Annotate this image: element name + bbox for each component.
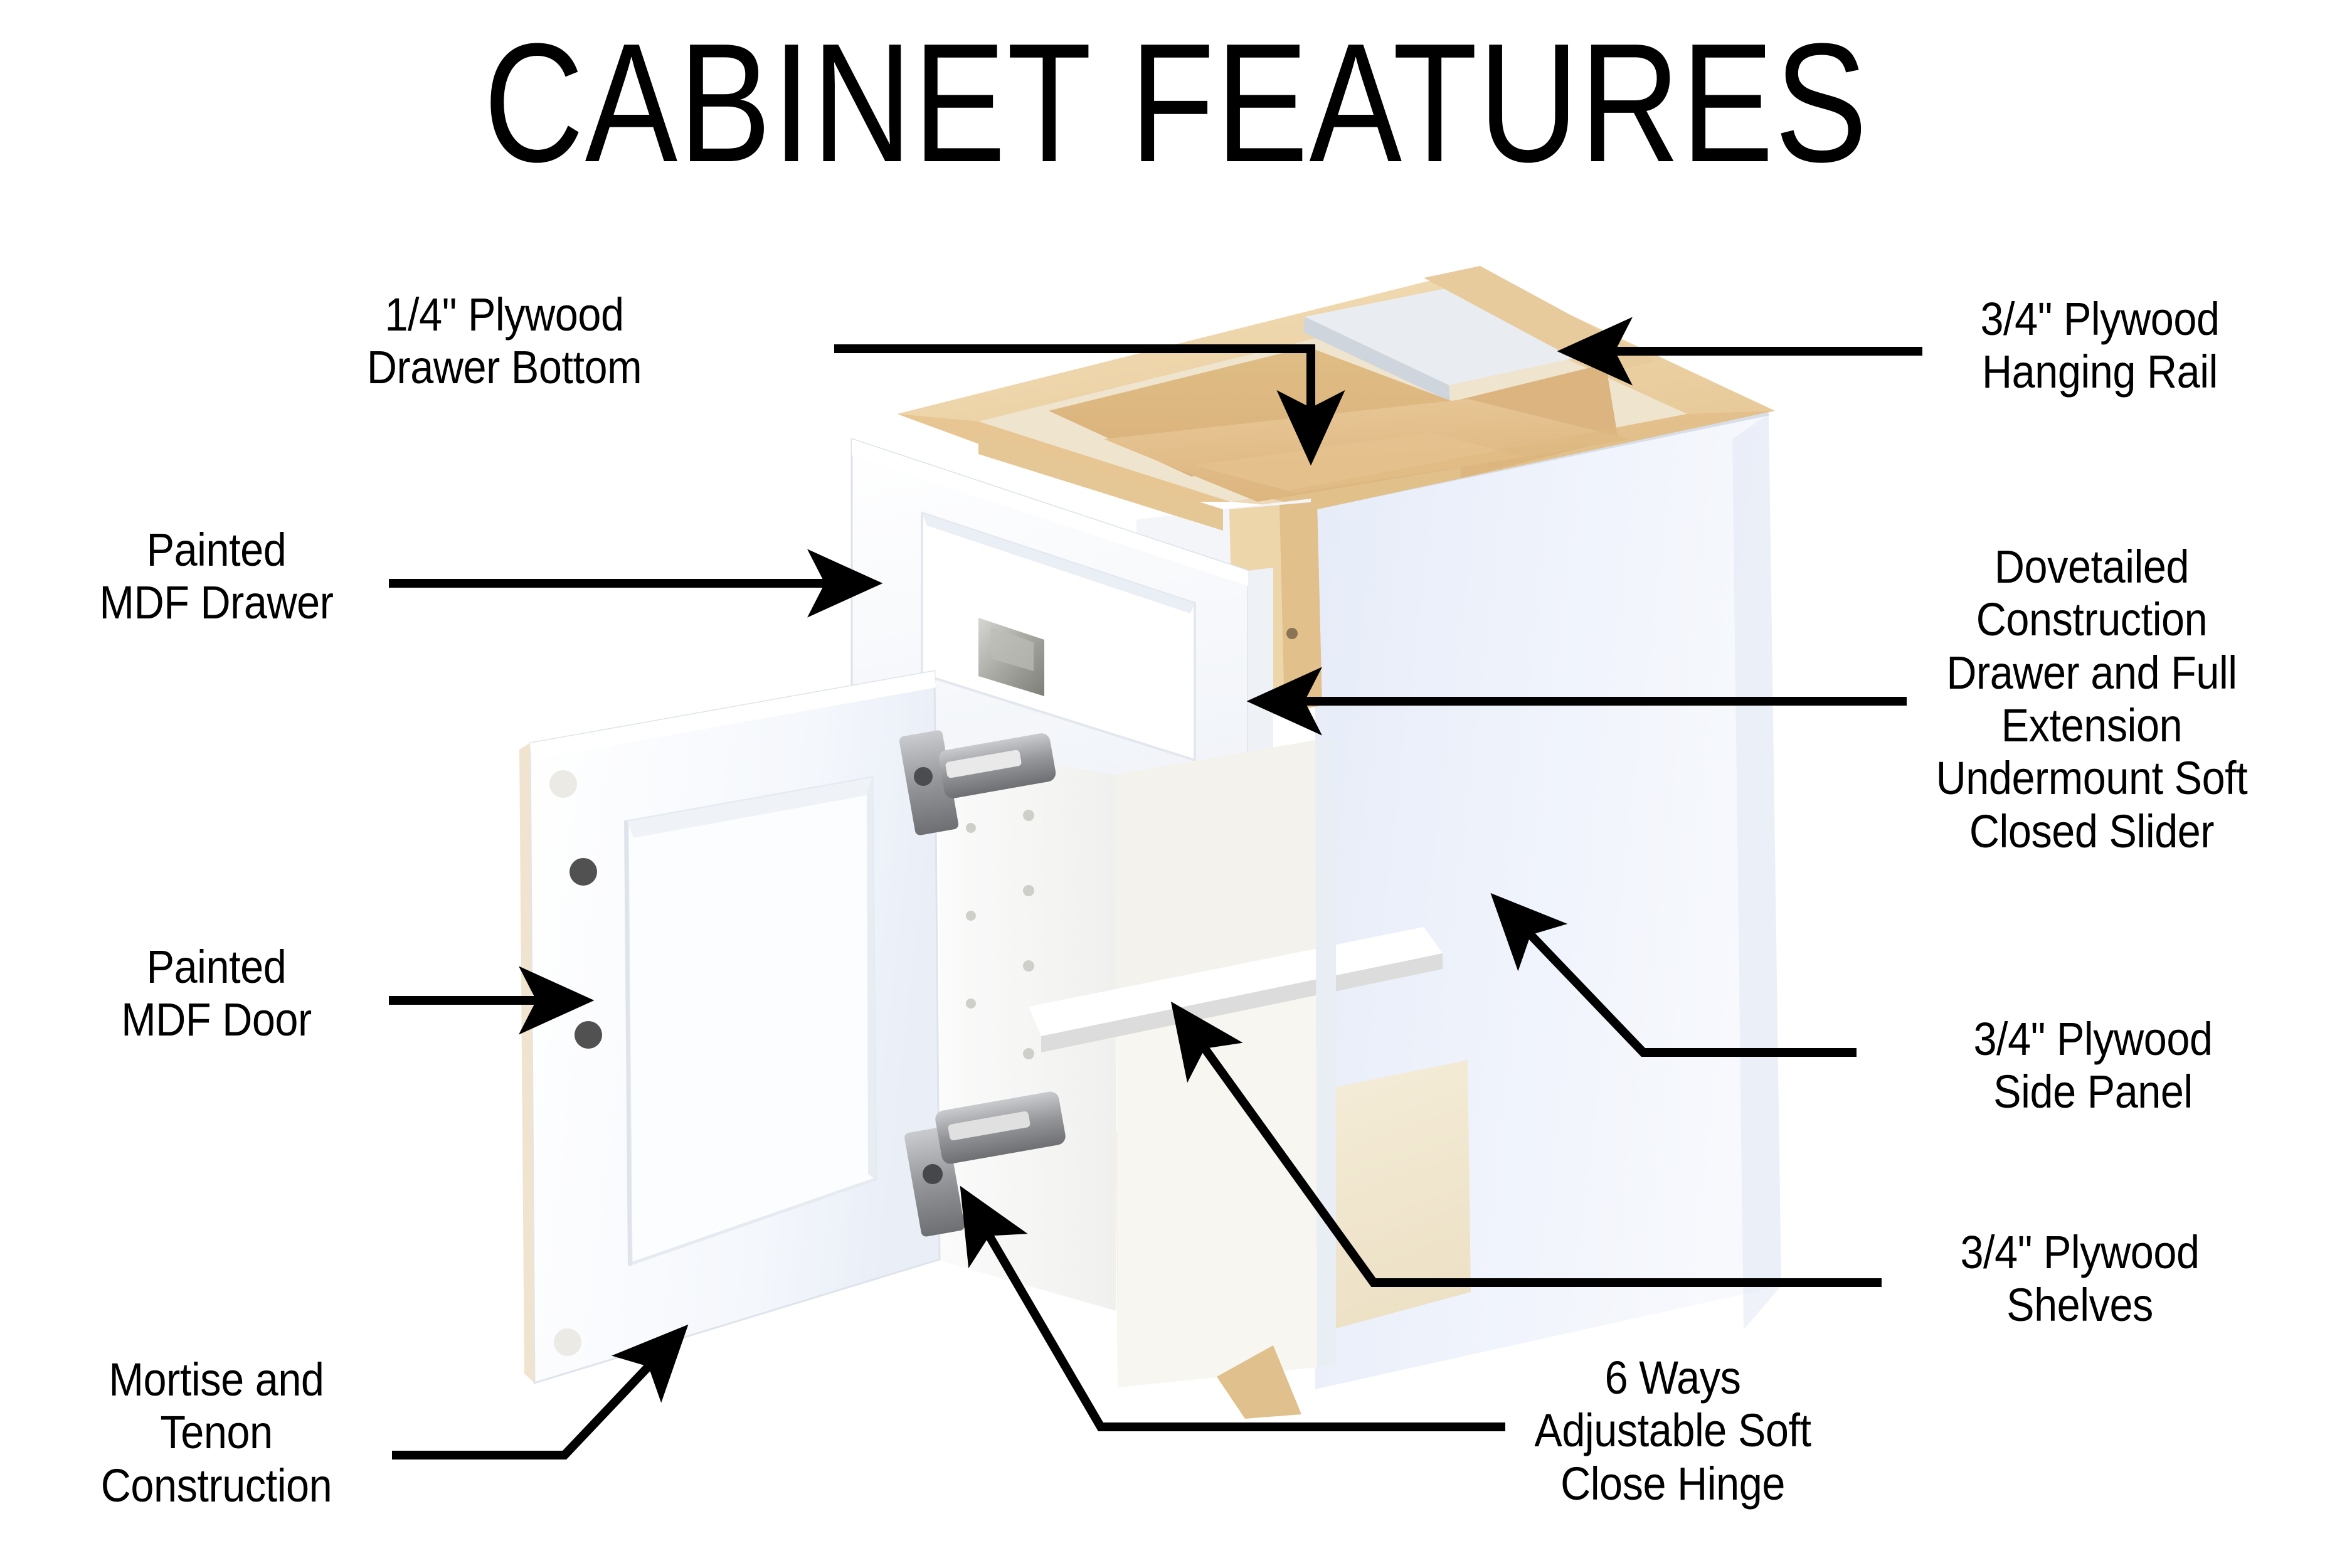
callout-line: Side Panel (1907, 1066, 2279, 1118)
callout-mortise-tenon: Mortise and Tenon Construction (19, 1353, 414, 1512)
callout-painted-drawer: Painted MDF Drawer (19, 524, 414, 630)
callout-line: Construction (19, 1459, 414, 1512)
callout-shelves: 3/4" Plywood Shelves (1888, 1226, 2272, 1332)
callout-painted-door: Painted MDF Door (19, 941, 414, 1047)
callout-line: Adjustable Soft (1486, 1404, 1859, 1457)
callout-line: Painted (19, 941, 414, 993)
callout-line: Dovetailed (1894, 541, 2289, 593)
callout-line: 6 Ways (1486, 1352, 1859, 1404)
callout-line: 3/4" Plywood (1888, 1226, 2272, 1279)
callout-line: Tenon (19, 1406, 414, 1459)
callout-drawer-bottom: 1/4" Plywood Drawer Bottom (312, 289, 696, 395)
callout-line: Drawer Bottom (312, 341, 696, 394)
callout-line: Painted (19, 524, 414, 576)
callout-line: Extension (1894, 699, 2289, 752)
leader-side-panel (1500, 903, 1857, 1052)
callout-line: Mortise and (19, 1353, 414, 1406)
callout-side-panel: 3/4" Plywood Side Panel (1907, 1013, 2279, 1119)
callout-line: Drawer and Full (1894, 647, 2289, 699)
infographic-canvas: CABINET FEATURES (0, 0, 2352, 1568)
callout-soft-hinge: 6 Ways Adjustable Soft Close Hinge (1486, 1352, 1859, 1510)
callout-hanging-rail: 3/4" Plywood Hanging Rail (1919, 293, 2280, 399)
callout-line: 1/4" Plywood (312, 289, 696, 341)
callout-line: Shelves (1888, 1279, 2272, 1332)
callout-line: Close Hinge (1486, 1458, 1859, 1510)
callout-line: MDF Door (19, 993, 414, 1046)
callout-line: Undermount Soft (1894, 752, 2289, 805)
leader-mortise-tenon (392, 1335, 679, 1455)
callout-dovetailed: Dovetailed Construction Drawer and Full … (1894, 541, 2289, 858)
callout-line: Closed Slider (1894, 805, 2289, 858)
callout-line: Hanging Rail (1919, 346, 2280, 398)
leader-soft-hinge (967, 1198, 1505, 1427)
callout-line: Construction (1894, 593, 2289, 646)
callout-line: MDF Drawer (19, 576, 414, 629)
callout-line: 3/4" Plywood (1919, 293, 2280, 346)
callout-line: 3/4" Plywood (1907, 1013, 2279, 1066)
leader-drawer-bottom (834, 349, 1311, 452)
